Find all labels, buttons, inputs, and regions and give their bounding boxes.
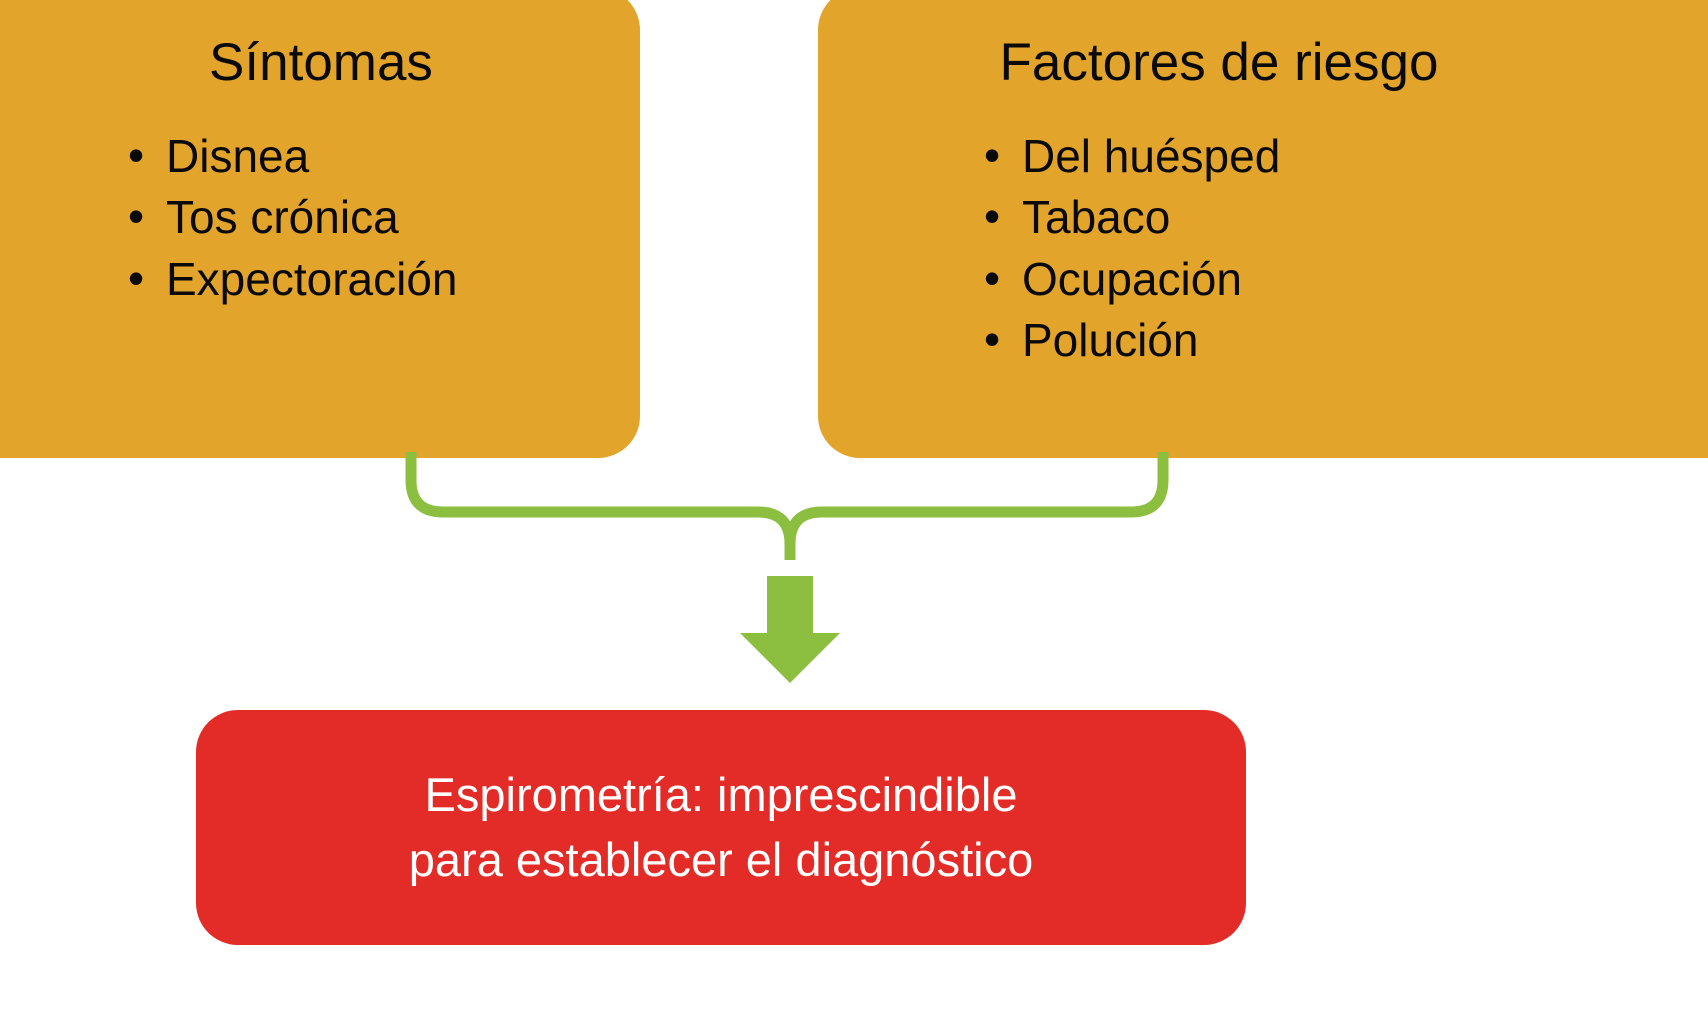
conclusion-box-spirometry[interactable]: Espirometría: imprescindible para establ… [196, 710, 1246, 945]
risk-factor-list: Del huésped Tabaco Ocupación Polución [978, 126, 1708, 371]
conclusion-line-2: para establecer el diagnóstico [409, 828, 1033, 893]
connector-line-left [411, 452, 790, 560]
box-title-symptoms: Síntomas [0, 34, 600, 92]
list-item: Ocupación [978, 249, 1708, 310]
connector-line-right [790, 452, 1163, 560]
down-arrow-icon [740, 576, 840, 683]
list-item: Polución [978, 310, 1708, 371]
box-title-risk-factors: Factores de riesgo [878, 34, 1708, 92]
list-item: Expectoración [122, 249, 600, 310]
list-item: Tos crónica [122, 187, 600, 248]
list-item: Del huésped [978, 126, 1708, 187]
diagram-canvas: Síntomas Disnea Tos crónica Expectoració… [0, 0, 1708, 1027]
conclusion-line-1: Espirometría: imprescindible [425, 763, 1018, 828]
concept-box-symptoms[interactable]: Síntomas Disnea Tos crónica Expectoració… [0, 0, 640, 458]
symptom-list: Disnea Tos crónica Expectoración [122, 126, 600, 310]
concept-box-risk-factors[interactable]: Factores de riesgo Del huésped Tabaco Oc… [818, 0, 1708, 458]
list-item: Disnea [122, 126, 600, 187]
list-item: Tabaco [978, 187, 1708, 248]
